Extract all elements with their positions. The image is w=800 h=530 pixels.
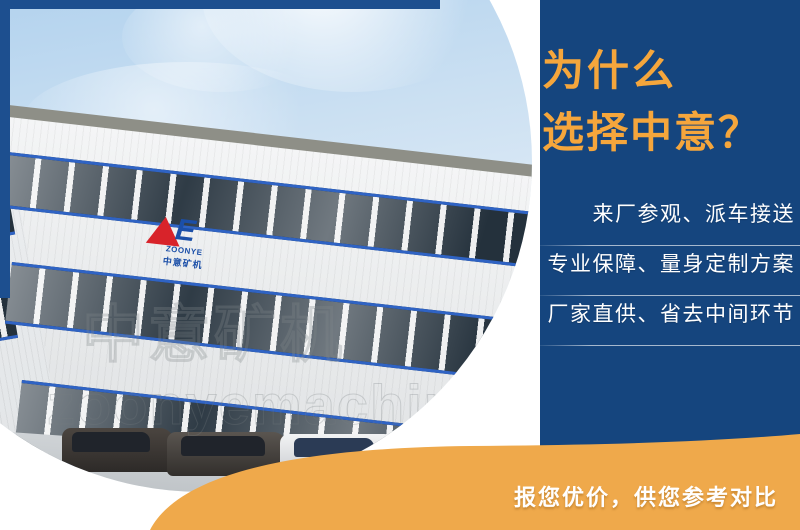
list-item: 来厂参观、派车接送 xyxy=(520,196,800,246)
parked-car xyxy=(382,436,492,476)
car-window xyxy=(294,438,374,457)
feature-label: 厂家直供、省去中间环节 xyxy=(548,298,796,328)
car-window xyxy=(394,440,468,458)
feature-label: 来厂参观、派车接送 xyxy=(593,198,796,228)
photo-left-edge xyxy=(0,0,10,298)
watermark-latin: zoonyemachinery xyxy=(47,372,532,437)
factory-photo: E ZOONYE 中意矿机 中意矿机 zoonyemachinery xyxy=(0,0,532,492)
car-window xyxy=(181,436,265,456)
feature-list: 来厂参观、派车接送 专业保障、量身定制方案 厂家直供、省去中间环节 xyxy=(520,196,800,346)
list-item: 厂家直供、省去中间环节 xyxy=(520,296,800,346)
photo-top-edge xyxy=(0,0,440,9)
page-title: 为什么 选择中意？ xyxy=(542,40,800,164)
divider xyxy=(532,345,800,346)
list-item: 专业保障、量身定制方案 xyxy=(520,246,800,296)
feature-label: 专业保障、量身定制方案 xyxy=(548,248,796,278)
wall-company-logo: E ZOONYE 中意矿机 xyxy=(141,213,224,273)
promo-banner: E ZOONYE 中意矿机 中意矿机 zoonyemachinery 为什么 选… xyxy=(0,0,800,530)
headline-line-2: 选择中意？ xyxy=(542,102,800,164)
parked-car xyxy=(167,432,287,476)
parked-car xyxy=(280,434,398,476)
factory-photo-disc: E ZOONYE 中意矿机 中意矿机 zoonyemachinery xyxy=(0,0,532,492)
banner-content: 为什么 选择中意？ 来厂参观、派车接送 专业保障、量身定制方案 厂家直供、省去中… xyxy=(520,0,800,530)
watermark-chinese: 中意矿机 xyxy=(82,284,346,374)
letter-e-icon: E xyxy=(174,216,197,246)
headline-line-1: 为什么 xyxy=(542,40,800,102)
